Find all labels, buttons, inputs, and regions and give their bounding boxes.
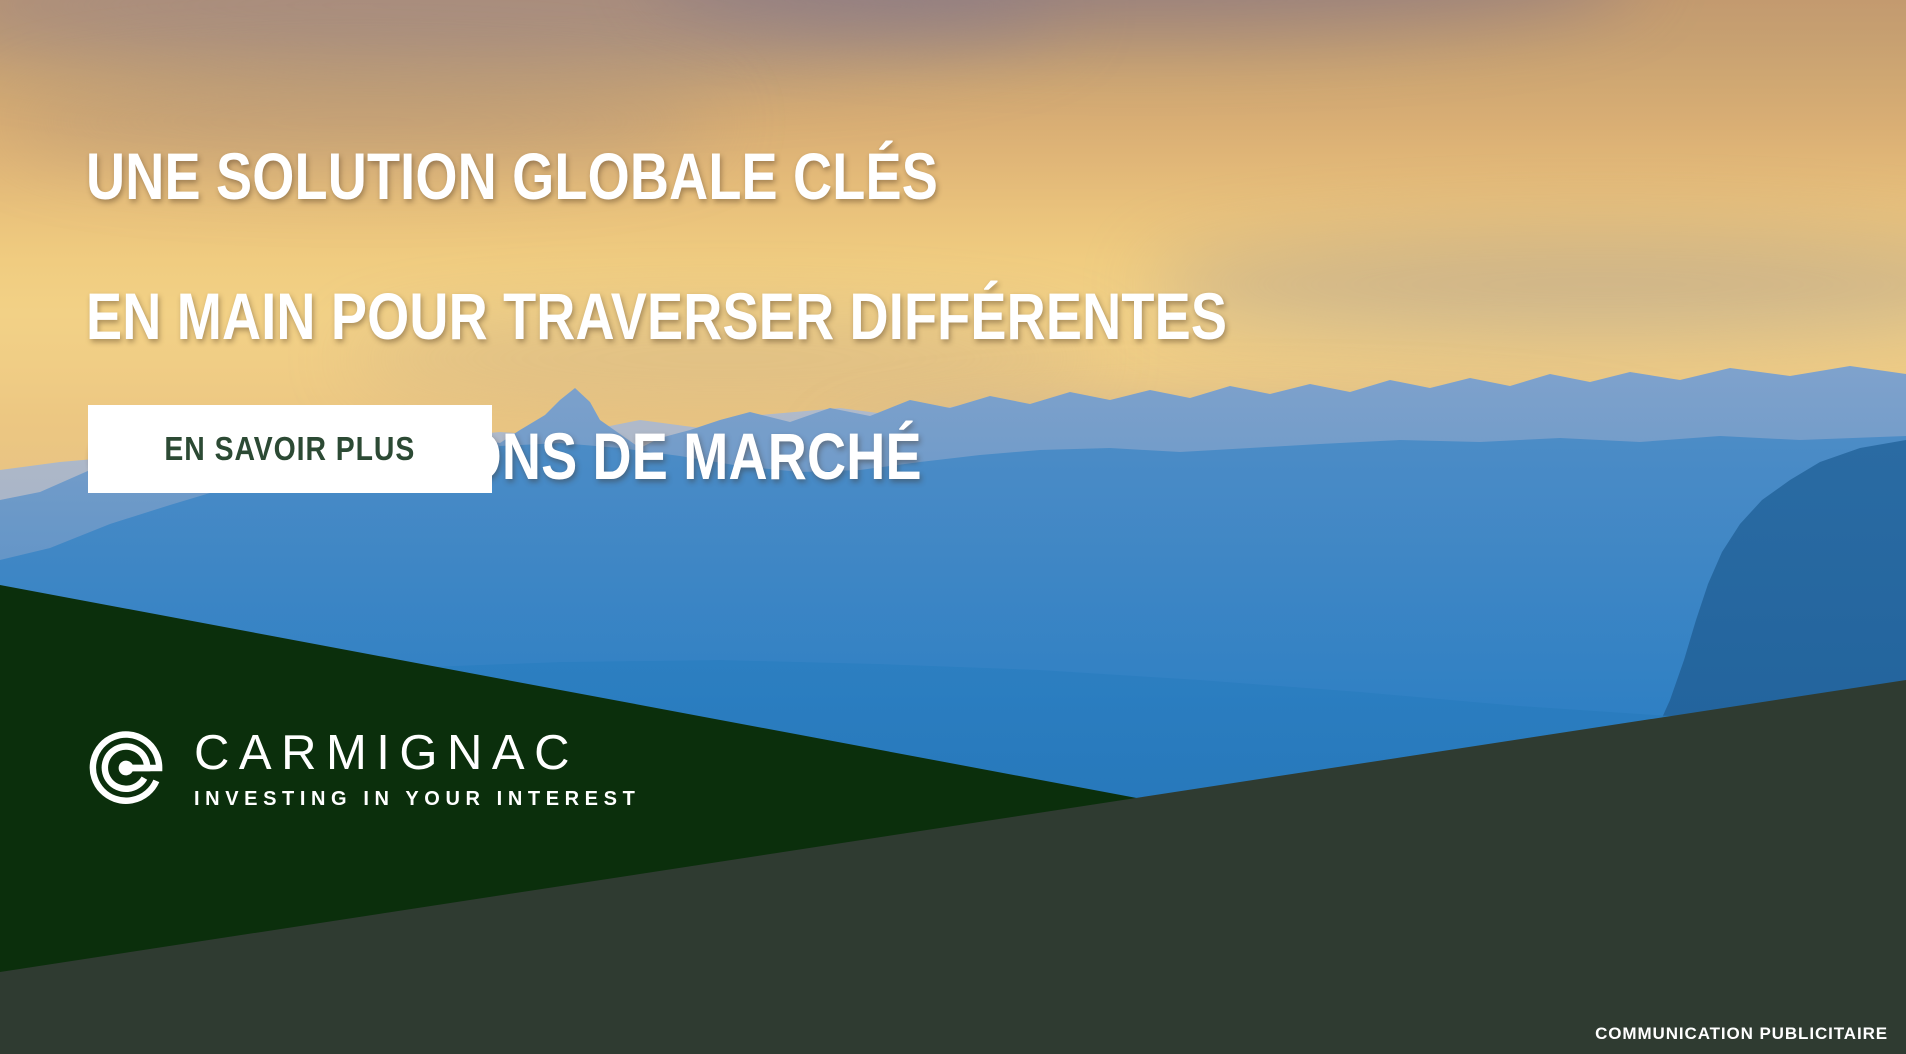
learn-more-button-label: EN SAVOIR PLUS [165,430,416,468]
headline-line-1: UNE SOLUTION GLOBALE CLÉS [86,142,1227,212]
logo-wordmark: CARMIGNAC [194,729,640,778]
learn-more-button[interactable]: EN SAVOIR PLUS [88,405,492,493]
carmignac-spiral-target-icon [80,722,172,814]
logo-tagline: INVESTING IN YOUR INTEREST [194,789,640,809]
carmignac-logo[interactable]: CARMIGNAC INVESTING IN YOUR INTEREST [80,722,640,814]
advertising-banner: UNE SOLUTION GLOBALE CLÉS EN MAIN POUR T… [0,0,1906,1054]
logo-text-block: CARMIGNAC INVESTING IN YOUR INTEREST [194,727,640,809]
banner-content: UNE SOLUTION GLOBALE CLÉS EN MAIN POUR T… [0,0,1906,1054]
advertising-disclaimer: COMMUNICATION PUBLICITAIRE [1595,1024,1888,1044]
headline-line-2: EN MAIN POUR TRAVERSER DIFFÉRENTES [86,282,1227,352]
